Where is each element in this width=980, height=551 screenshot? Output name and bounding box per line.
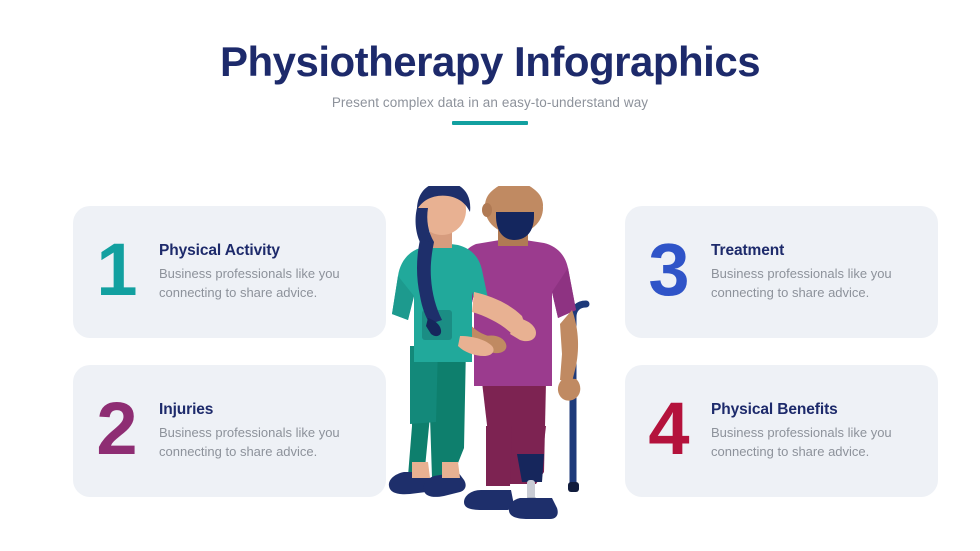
header: Physiotherapy Infographics Present compl… — [0, 40, 980, 125]
info-card-3[interactable]: 3 Treatment Business professionals like … — [625, 206, 938, 338]
card-body-1: Physical Activity Business professionals… — [159, 242, 386, 302]
page-title: Physiotherapy Infographics — [0, 40, 980, 84]
card-text-4: Business professionals like you connecti… — [711, 424, 893, 461]
info-card-4[interactable]: 4 Physical Benefits Business professiona… — [625, 365, 938, 497]
card-title-2: Injuries — [159, 401, 372, 419]
card-title-3: Treatment — [711, 242, 924, 260]
card-number-4: 4 — [625, 392, 711, 470]
card-number-2: 2 — [73, 392, 159, 470]
card-number-3: 3 — [625, 233, 711, 311]
card-text-3: Business professionals like you connecti… — [711, 265, 893, 302]
illustration-physiotherapy — [386, 186, 626, 526]
card-text-2: Business professionals like you connecti… — [159, 424, 341, 461]
card-number-1: 1 — [73, 233, 159, 311]
accent-divider — [452, 121, 528, 125]
card-body-3: Treatment Business professionals like yo… — [711, 242, 938, 302]
card-text-1: Business professionals like you connecti… — [159, 265, 341, 302]
card-title-4: Physical Benefits — [711, 401, 924, 419]
info-card-1[interactable]: 1 Physical Activity Business professiona… — [73, 206, 386, 338]
card-body-2: Injuries Business professionals like you… — [159, 401, 386, 461]
card-title-1: Physical Activity — [159, 242, 372, 260]
card-body-4: Physical Benefits Business professionals… — [711, 401, 938, 461]
info-card-2[interactable]: 2 Injuries Business professionals like y… — [73, 365, 386, 497]
infographic-slide: Physiotherapy Infographics Present compl… — [0, 0, 980, 551]
page-subtitle: Present complex data in an easy-to-under… — [0, 95, 980, 110]
